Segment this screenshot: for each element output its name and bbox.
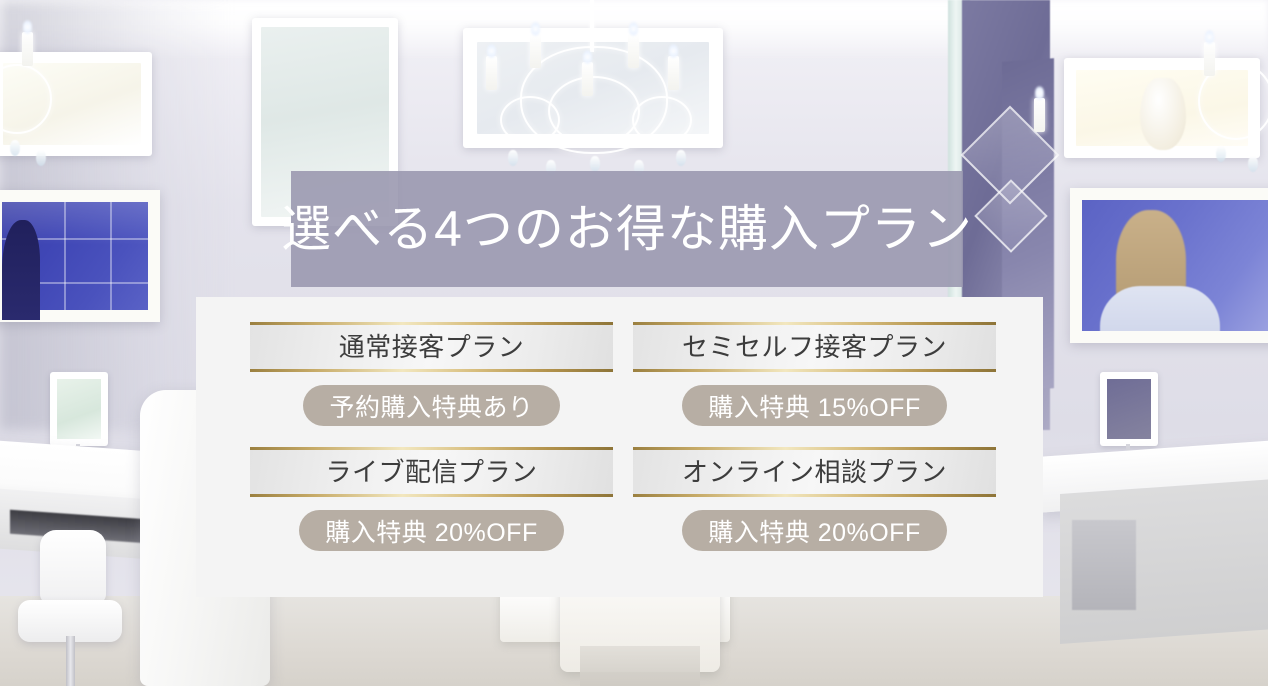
chandelier-flame bbox=[583, 50, 592, 64]
plan-title-bar: 通常接客プラン bbox=[250, 322, 613, 372]
white-vase bbox=[1140, 78, 1186, 150]
chandelier-candle bbox=[530, 34, 541, 68]
chandelier-candle bbox=[628, 34, 639, 68]
headline-band: 選べる4つのお得な購入プラン bbox=[291, 171, 963, 287]
person-silhouette bbox=[2, 220, 40, 320]
chandelier-scroll bbox=[632, 96, 692, 144]
chandelier-crystal bbox=[676, 150, 686, 166]
sconce-candle bbox=[1034, 98, 1045, 132]
mirror-glass bbox=[1107, 379, 1151, 439]
stool-backrest bbox=[40, 530, 106, 604]
storage-bin bbox=[1072, 520, 1136, 610]
chandelier-candle bbox=[668, 56, 679, 90]
sconce-flame bbox=[1205, 30, 1214, 44]
sconce-flame bbox=[1035, 86, 1044, 100]
plan-benefit-row: 購入特典 20%OFF bbox=[633, 510, 996, 551]
plan-benefit-badge: 購入特典 20%OFF bbox=[682, 510, 946, 551]
sconce-flame bbox=[23, 20, 32, 34]
chandelier-flame bbox=[629, 22, 638, 36]
plan-benefit-row: 購入特典 15%OFF bbox=[633, 385, 996, 426]
plan-title-bar: セミセルフ接客プラン bbox=[633, 322, 996, 372]
chandelier-crystal bbox=[508, 150, 518, 166]
chandelier-rod bbox=[590, 0, 594, 52]
vanity-mirror-right bbox=[1100, 372, 1158, 446]
sconce-crystal bbox=[36, 150, 46, 166]
chandelier-scroll bbox=[500, 96, 560, 144]
plan-title: オンライン相談プラン bbox=[682, 459, 947, 485]
sconce-crystal bbox=[1216, 146, 1226, 162]
plan-card-online[interactable]: オンライン相談プラン 購入特典 20%OFF bbox=[633, 447, 996, 551]
plan-title: セミセルフ接客プラン bbox=[682, 334, 947, 360]
stool-leg bbox=[66, 636, 75, 686]
chandelier-inner-frame bbox=[548, 76, 640, 146]
sconce-crystal bbox=[1248, 156, 1258, 172]
plan-benefit-row: 予約購入特典あり bbox=[250, 385, 613, 426]
plan-card-live[interactable]: ライブ配信プラン 購入特典 20%OFF bbox=[250, 447, 613, 551]
vanity-mirror-left bbox=[50, 372, 108, 446]
chandelier-flame bbox=[487, 44, 496, 58]
center-stool-legs bbox=[580, 646, 700, 686]
sconce-candle bbox=[1204, 42, 1215, 76]
sconce-crystal bbox=[10, 140, 20, 156]
plan-grid: 通常接客プラン 予約購入特典あり セミセルフ接客プラン 購入特典 15%OFF … bbox=[250, 322, 996, 551]
plan-title: 通常接客プラン bbox=[339, 334, 525, 360]
plan-panel: 通常接客プラン 予約購入特典あり セミセルフ接客プラン 購入特典 15%OFF … bbox=[196, 297, 1043, 597]
chandelier-candle bbox=[486, 56, 497, 90]
chandelier-candle bbox=[582, 62, 593, 96]
mirror-glass bbox=[57, 379, 101, 439]
chandelier-crystal bbox=[590, 156, 600, 172]
promo-banner-image: 選べる4つのお得な購入プラン 通常接客プラン 予約購入特典あり セミセルフ接客プ… bbox=[0, 0, 1268, 686]
plan-title-bar: ライブ配信プラン bbox=[250, 447, 613, 497]
headline-text: 選べる4つのお得な購入プラン bbox=[281, 204, 973, 254]
plan-benefit-badge: 購入特典 20%OFF bbox=[299, 510, 563, 551]
chandelier-flame bbox=[531, 22, 540, 36]
plan-card-normal[interactable]: 通常接客プラン 予約購入特典あり bbox=[250, 322, 613, 426]
sconce-candle bbox=[22, 32, 33, 66]
plan-benefit-badge: 購入特典 15%OFF bbox=[682, 385, 946, 426]
window-mullion bbox=[110, 202, 112, 310]
person-body bbox=[1100, 286, 1220, 331]
window-mullion bbox=[64, 202, 66, 310]
framed-photo-left bbox=[0, 190, 160, 322]
plan-card-semiself[interactable]: セミセルフ接客プラン 購入特典 15%OFF bbox=[633, 322, 996, 426]
framed-photo-right bbox=[1070, 188, 1268, 343]
plan-title-bar: オンライン相談プラン bbox=[633, 447, 996, 497]
plan-title: ライブ配信プラン bbox=[325, 459, 537, 485]
photo-image-right bbox=[1082, 200, 1268, 331]
plan-benefit-row: 購入特典 20%OFF bbox=[250, 510, 613, 551]
photo-image-left bbox=[2, 202, 148, 310]
plan-benefit-badge: 予約購入特典あり bbox=[303, 385, 559, 426]
chandelier-flame bbox=[669, 44, 678, 58]
